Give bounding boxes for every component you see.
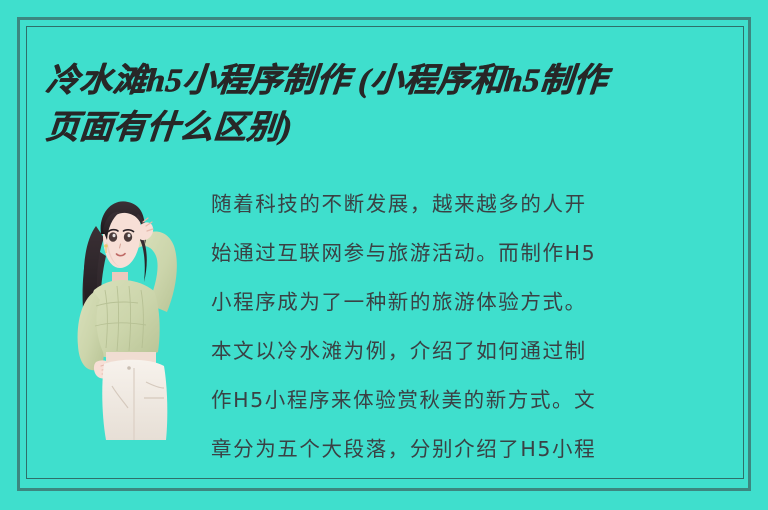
body-line-5: 作H5小程序来体验赏秋美的新方式。文 (211, 376, 731, 425)
title-line-2: 页面有什么区别) (44, 105, 728, 152)
body-line-1: 随着科技的不断发展，越来越多的人开 (211, 180, 731, 229)
poster-canvas: 冷水滩h5小程序制作 (小程序和h5制作 页面有什么区别) (0, 0, 768, 510)
character-illustration (60, 186, 200, 440)
body-line-6: 章分为五个大段落，分别介绍了H5小程 (211, 425, 731, 474)
body-line-3: 小程序成为了一种新的旅游体验方式。 (211, 278, 731, 327)
body-paragraph: 随着科技的不断发展，越来越多的人开 始通过互联网参与旅游活动。而制作H5 小程序… (211, 180, 731, 474)
body-line-2: 始通过互联网参与旅游活动。而制作H5 (211, 229, 731, 278)
body-line-4: 本文以冷水滩为例，介绍了如何通过制 (211, 327, 731, 376)
character-illustration-svg (60, 186, 200, 440)
page-title: 冷水滩h5小程序制作 (小程序和h5制作 页面有什么区别) (46, 58, 726, 152)
title-line-1: 冷水滩h5小程序制作 (小程序和h5制作 (44, 58, 728, 105)
